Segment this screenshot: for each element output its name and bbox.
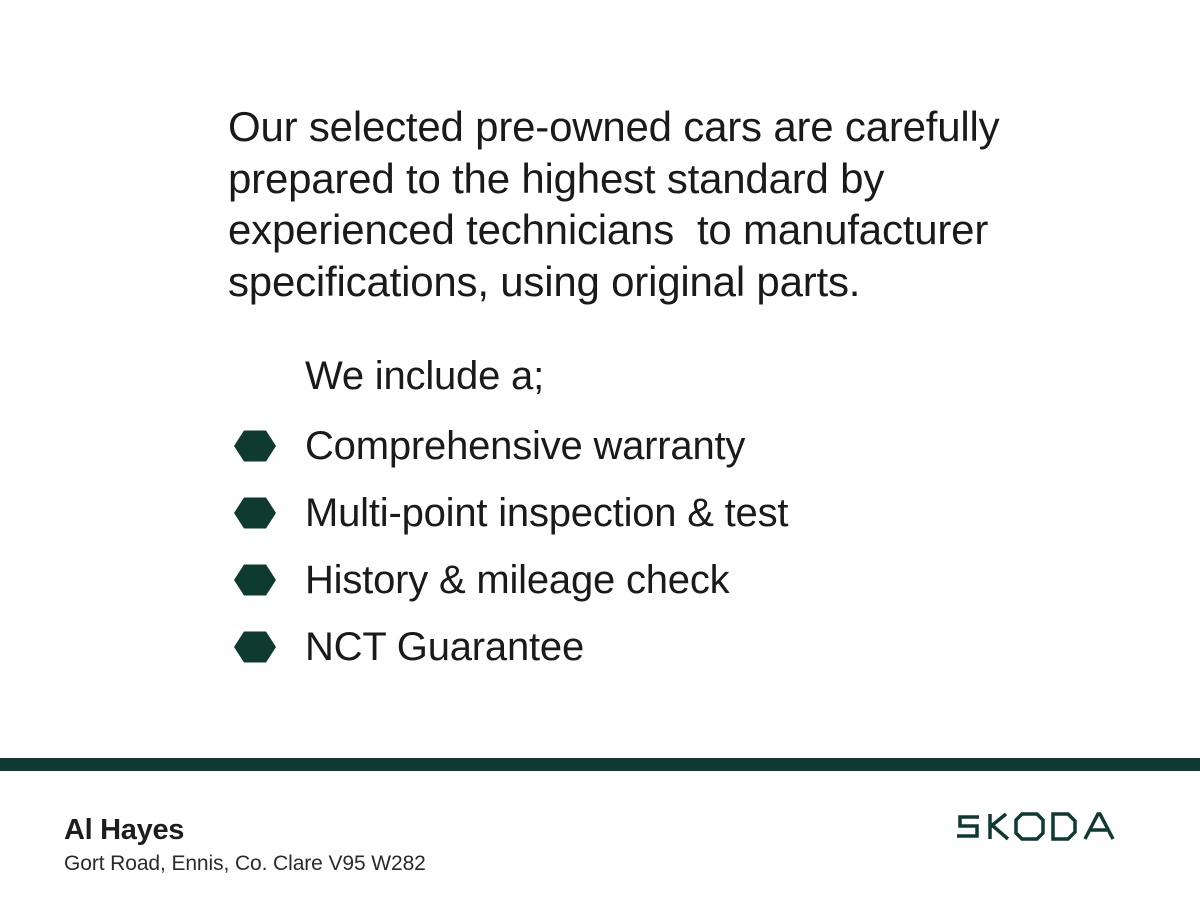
dealer-address: Gort Road, Ennis, Co. Clare V95 W282 bbox=[64, 851, 426, 877]
list-item-label: NCT Guarantee bbox=[305, 625, 584, 669]
hexagon-bullet-icon bbox=[233, 630, 277, 664]
footer: Al Hayes Gort Road, Ennis, Co. Clare V95… bbox=[0, 771, 1200, 900]
promo-slide: Our selected pre-owned cars are carefull… bbox=[0, 0, 1200, 900]
skoda-wordmark-logo bbox=[954, 807, 1136, 847]
list-item: History & mileage check bbox=[233, 546, 1033, 613]
headline-line-2: prepared to the highest standard by bbox=[228, 153, 1018, 205]
divider bbox=[0, 758, 1200, 771]
include-label: We include a; bbox=[305, 352, 544, 400]
hexagon-bullet-icon bbox=[233, 563, 277, 597]
dealer-name: Al Hayes bbox=[64, 813, 426, 847]
slide-content: Our selected pre-owned cars are carefull… bbox=[0, 0, 1200, 758]
list-item: Multi-point inspection & test bbox=[233, 479, 1033, 546]
list-item-label: Multi-point inspection & test bbox=[305, 491, 788, 535]
headline-line-1: Our selected pre-owned cars are carefull… bbox=[228, 101, 1018, 153]
hexagon-bullet-icon bbox=[233, 496, 277, 530]
list-item: NCT Guarantee bbox=[233, 613, 1033, 680]
page-title: Our selected pre-owned cars are carefull… bbox=[228, 101, 1018, 307]
headline-line-3: experienced technicians to manufacturer bbox=[228, 204, 1018, 256]
list-item-label: History & mileage check bbox=[305, 558, 729, 602]
inclusions-list: Comprehensive warranty Multi-point inspe… bbox=[233, 412, 1033, 680]
list-item-label: Comprehensive warranty bbox=[305, 424, 745, 468]
headline-line-4: specifications, using original parts. bbox=[228, 256, 1018, 308]
list-item: Comprehensive warranty bbox=[233, 412, 1033, 479]
hexagon-bullet-icon bbox=[233, 429, 277, 463]
dealer-info: Al Hayes Gort Road, Ennis, Co. Clare V95… bbox=[64, 813, 426, 877]
